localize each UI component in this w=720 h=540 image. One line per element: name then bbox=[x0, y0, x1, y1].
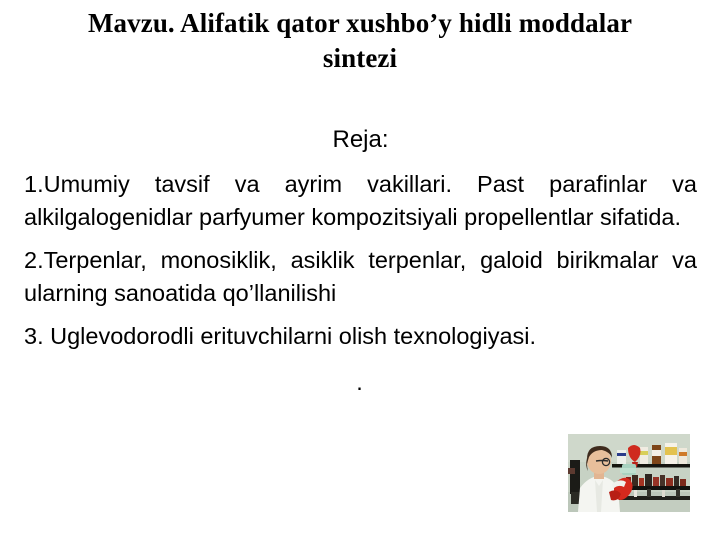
agenda-item-3: 3. Uglevodorodli erituvchilarni olish te… bbox=[24, 320, 697, 353]
laboratory-scene-illustration bbox=[568, 434, 690, 512]
slide-canvas: Mavzu. Alifatik qator xushbo’y hidli mod… bbox=[0, 0, 720, 540]
slide-title-line-2: sintezi bbox=[30, 41, 690, 76]
slide-body: Reja: 1.Umumiy tavsif va ayrim vakillari… bbox=[24, 124, 697, 397]
trailing-period: . bbox=[24, 367, 697, 397]
agenda-item-2: 2.Terpenlar, monosiklik, asiklik terpenl… bbox=[24, 244, 697, 310]
slide-title-line-1: Mavzu. Alifatik qator xushbo’y hidli mod… bbox=[30, 6, 690, 41]
laboratory-scientist-photo bbox=[568, 434, 690, 512]
agenda-heading: Reja: bbox=[24, 124, 697, 156]
agenda-item-1: 1.Umumiy tavsif va ayrim vakillari. Past… bbox=[24, 168, 697, 234]
slide-title: Mavzu. Alifatik qator xushbo’y hidli mod… bbox=[30, 6, 690, 76]
